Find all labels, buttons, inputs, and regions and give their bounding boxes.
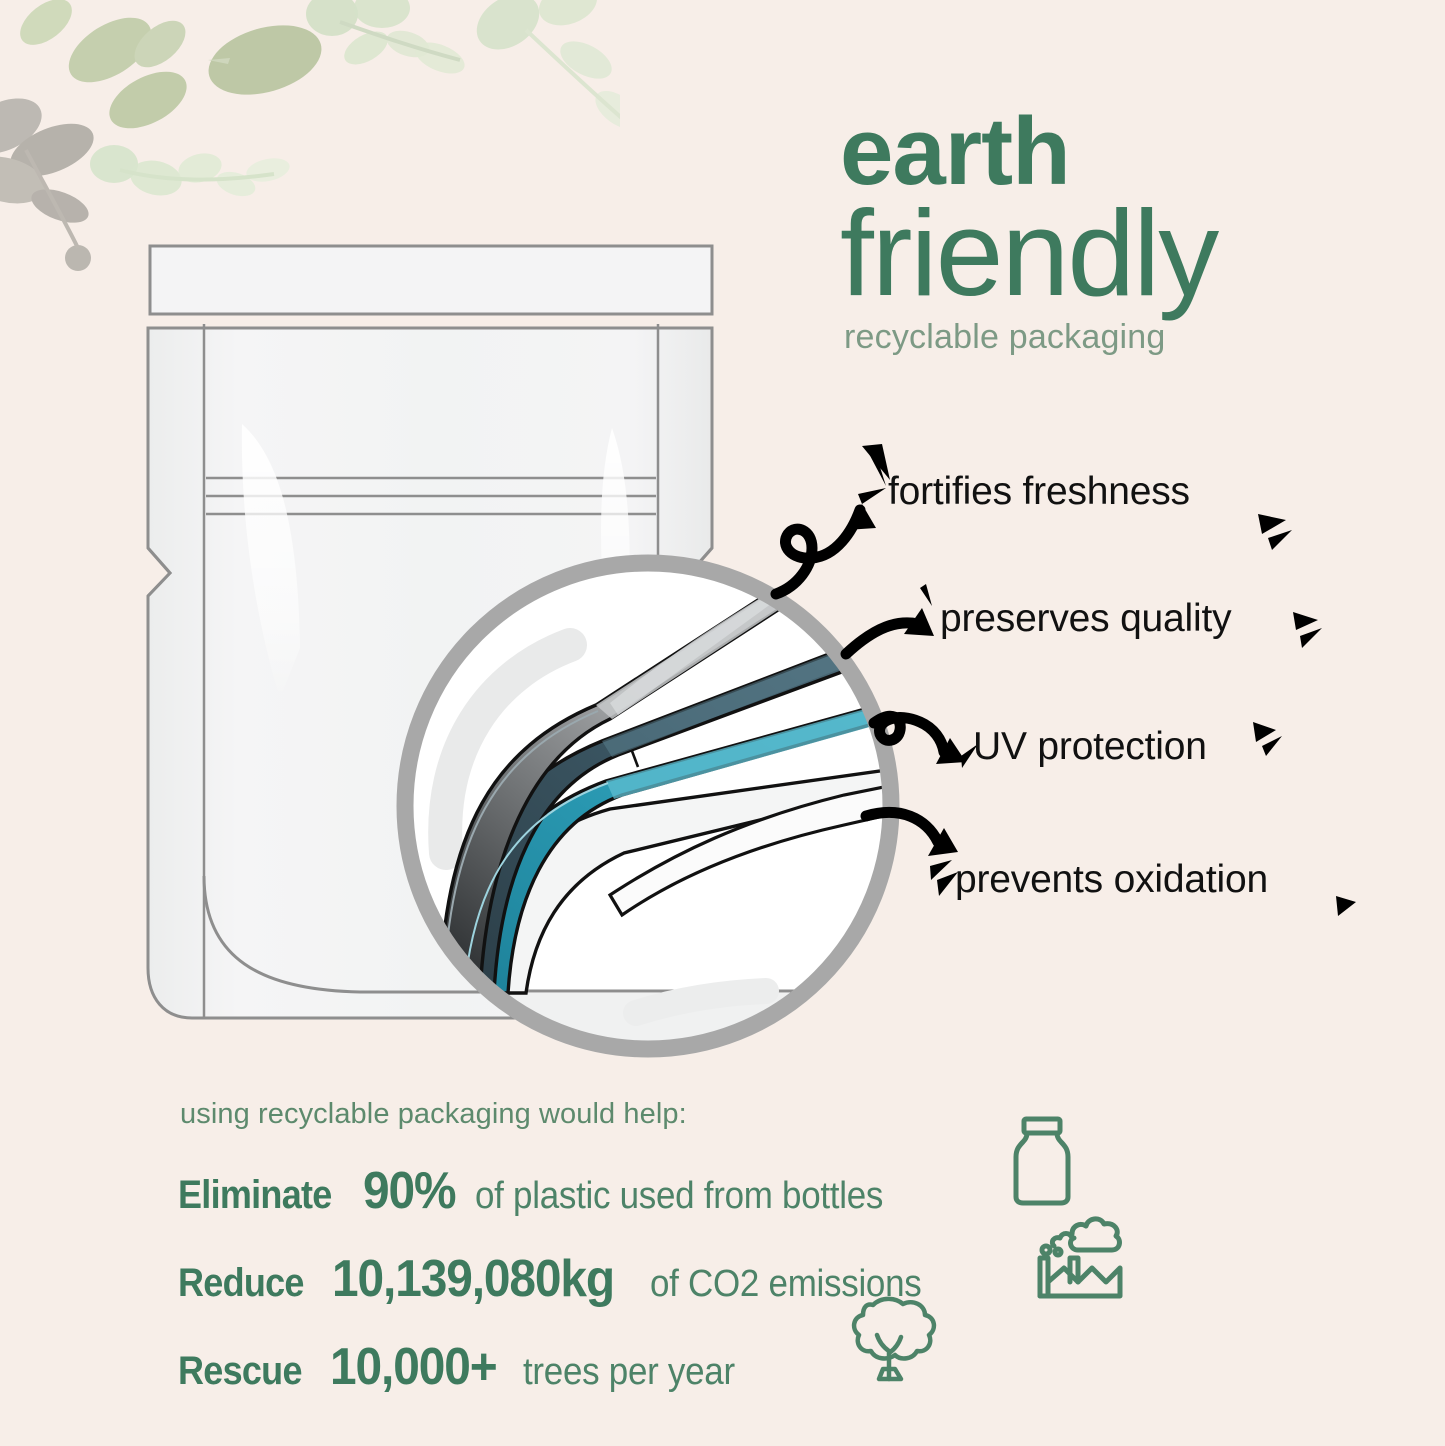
heading-line-2: friendly bbox=[840, 196, 1400, 312]
stat-number: 10,139,080kg bbox=[332, 1249, 614, 1309]
infographic-canvas: earth friendly recyclable packaging fort… bbox=[0, 0, 1445, 1446]
stat-row-reduce: Reduce 10,139,080kg of CO2 emissions bbox=[178, 1249, 1078, 1309]
stat-verb: Rescue bbox=[178, 1349, 302, 1394]
stat-verb: Reduce bbox=[178, 1261, 304, 1306]
feature-label-preserves-quality: preserves quality bbox=[940, 597, 1231, 641]
statistics-section: using recyclable packaging would help: E… bbox=[178, 1098, 1078, 1425]
stat-number: 10,000+ bbox=[330, 1337, 497, 1397]
stat-row-rescue: Rescue 10,000+ trees per year bbox=[178, 1337, 1078, 1397]
stats-intro: using recyclable packaging would help: bbox=[180, 1098, 1078, 1131]
stat-verb: Eliminate bbox=[178, 1173, 332, 1218]
stat-number: 90% bbox=[363, 1161, 455, 1221]
tree-icon bbox=[833, 1291, 943, 1391]
feature-label-fortifies-freshness: fortifies freshness bbox=[888, 470, 1190, 514]
heading-subtitle: recyclable packaging bbox=[844, 318, 1400, 357]
factory-icon bbox=[1028, 1212, 1132, 1302]
stat-row-eliminate: Eliminate 90% of plastic used from bottl… bbox=[178, 1161, 1078, 1221]
feature-label-uv-protection: UV protection bbox=[973, 725, 1207, 769]
page-heading: earth friendly recyclable packaging bbox=[840, 108, 1400, 357]
stat-tail: of plastic used from bottles bbox=[475, 1175, 883, 1218]
heading-line-1: earth bbox=[840, 108, 1400, 196]
bottle-icon bbox=[1000, 1113, 1084, 1209]
stat-tail: trees per year bbox=[523, 1351, 735, 1394]
feature-label-prevents-oxidation: prevents oxidation bbox=[955, 858, 1268, 902]
